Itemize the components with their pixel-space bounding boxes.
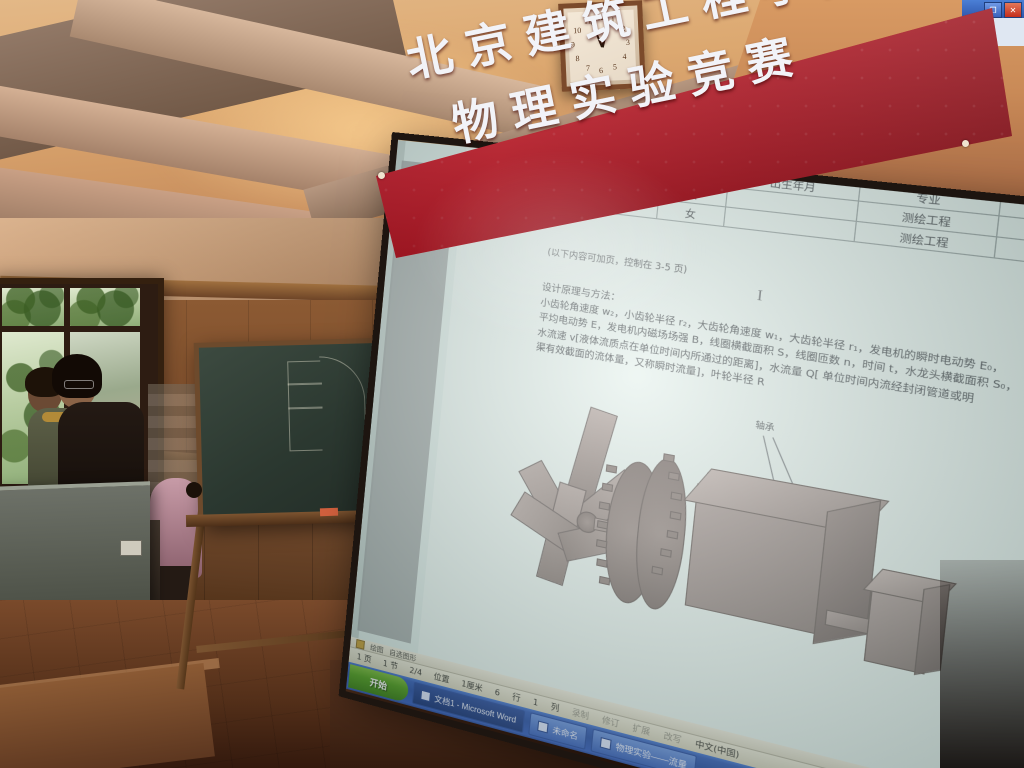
window-pane <box>70 288 140 326</box>
foliage <box>2 288 64 326</box>
screenshot-root: 12 1 2 3 4 5 6 7 8 9 10 11 <box>0 0 1024 768</box>
chalk-drawing <box>319 355 366 441</box>
banner-grommet <box>962 140 969 147</box>
glasses-icon <box>64 380 94 389</box>
easel-knob <box>186 482 202 498</box>
banner-grommet <box>378 172 385 179</box>
close-button[interactable]: ✕ <box>1004 2 1022 18</box>
person-hair <box>52 354 102 398</box>
window-pane <box>2 288 64 326</box>
podium-control-panel <box>120 540 142 556</box>
dark-foreground-shadow <box>940 560 1024 768</box>
chalk-eraser <box>320 508 338 517</box>
foliage <box>70 288 140 326</box>
